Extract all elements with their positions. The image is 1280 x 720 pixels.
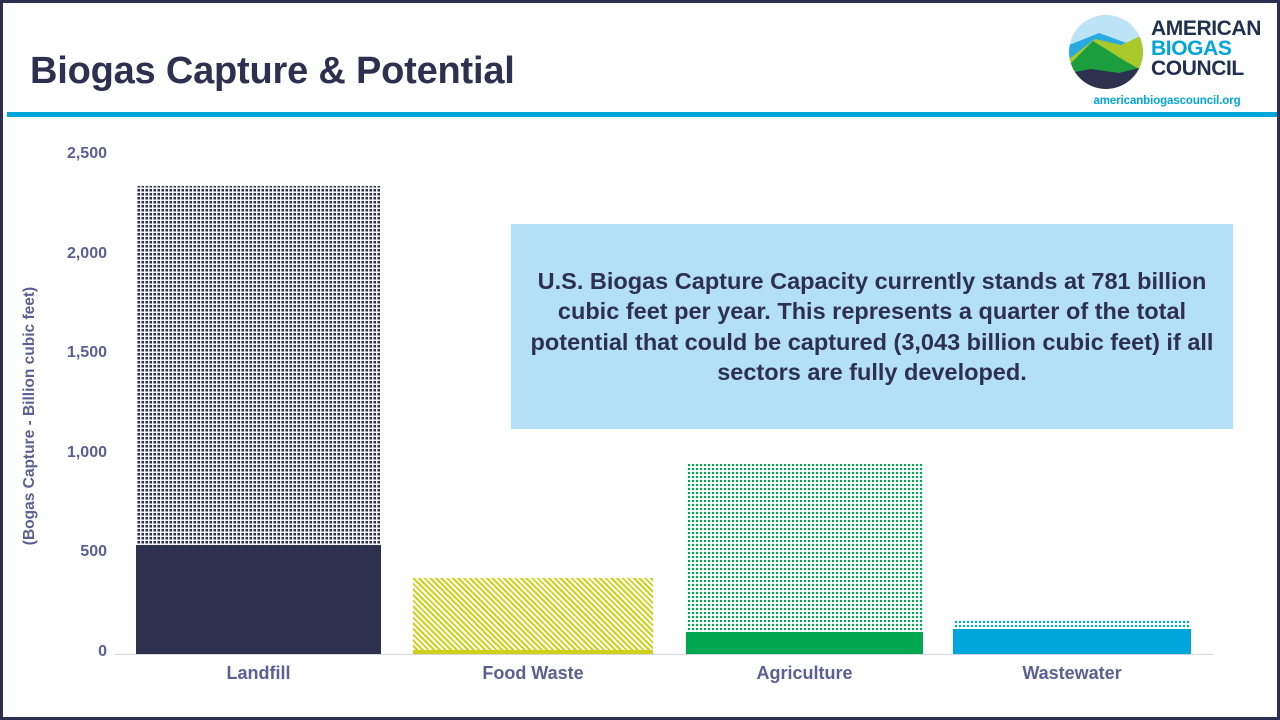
x-axis-line bbox=[115, 654, 1213, 655]
logo-line-american: AMERICAN bbox=[1151, 19, 1261, 39]
logo-wordmark: AMERICAN BIOGAS COUNCIL bbox=[1151, 19, 1261, 79]
bar-segment-captured bbox=[413, 650, 653, 654]
logo-line-council: COUNCIL bbox=[1151, 59, 1261, 79]
page-title: Biogas Capture & Potential bbox=[30, 50, 515, 93]
logo-line-biogas: BIOGAS bbox=[1151, 39, 1261, 59]
brand-logo[interactable]: AMERICAN BIOGAS COUNCIL americanbiogasco… bbox=[1065, 11, 1265, 111]
bar-segment-potential bbox=[953, 620, 1191, 629]
x-label-agriculture: Agriculture bbox=[686, 663, 923, 684]
bar-segment-captured bbox=[686, 632, 923, 654]
callout-box: U.S. Biogas Capture Capacity currently s… bbox=[511, 224, 1233, 429]
x-label-food-waste: Food Waste bbox=[413, 663, 653, 684]
bar-segment-potential bbox=[136, 186, 381, 545]
y-axis-title: (Bogas Capture - Billion cubic feet) bbox=[21, 156, 39, 676]
y-tick-label-0: 0 bbox=[35, 643, 107, 661]
biogas-circle-icon bbox=[1069, 15, 1143, 89]
bar-food-waste[interactable] bbox=[413, 578, 653, 654]
x-label-landfill: Landfill bbox=[136, 663, 381, 684]
bar-agriculture[interactable] bbox=[686, 464, 923, 654]
logo-website-url[interactable]: americanbiogascouncil.org bbox=[1071, 95, 1263, 107]
slide-canvas: Biogas Capture & Potential AMERICAN BIOG… bbox=[0, 0, 1280, 720]
y-tick-label-500: 500 bbox=[35, 543, 107, 561]
y-tick-label-1500: 1,500 bbox=[35, 344, 107, 362]
y-tick-label-1000: 1,000 bbox=[35, 444, 107, 462]
bar-segment-captured bbox=[953, 629, 1191, 654]
bar-segment-potential bbox=[686, 464, 923, 632]
x-label-wastewater: Wastewater bbox=[953, 663, 1191, 684]
y-tick-label-2000: 2,000 bbox=[35, 245, 107, 263]
y-tick-label-2500: 2,500 bbox=[35, 145, 107, 163]
bar-segment-captured bbox=[136, 545, 381, 654]
bar-landfill[interactable] bbox=[136, 186, 381, 654]
bar-segment-potential bbox=[413, 578, 653, 650]
callout-text: U.S. Biogas Capture Capacity currently s… bbox=[511, 266, 1233, 386]
bar-wastewater[interactable] bbox=[953, 620, 1191, 654]
